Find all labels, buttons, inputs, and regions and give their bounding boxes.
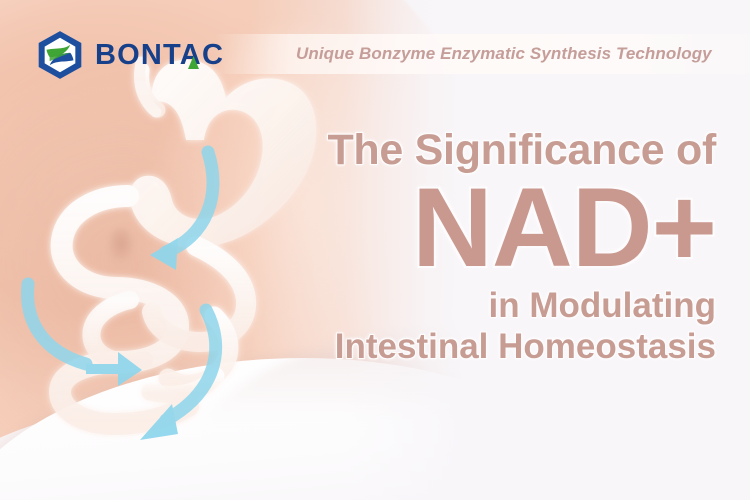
wordmark-green-accent-icon	[188, 56, 199, 69]
headline-line-3: in Modulating	[296, 286, 716, 325]
headline-line-4: Intestinal Homeostasis	[296, 327, 716, 366]
wordmark-text: BONTAC	[95, 39, 224, 71]
brand-wordmark: BONTAC	[95, 41, 224, 70]
bontac-hexagon-leaf-icon	[34, 29, 86, 81]
tagline-text: Unique Bonzyme Enzymatic Synthesis Techn…	[296, 44, 712, 64]
headline-emphasis-nad: NAD+	[296, 175, 716, 280]
brand-logo[interactable]: BONTAC	[34, 29, 224, 81]
headline-block: The Significance of NAD+ in Modulating I…	[296, 128, 716, 366]
promotional-banner: BONTAC Unique Bonzyme Enzymatic Synthesi…	[0, 0, 750, 500]
